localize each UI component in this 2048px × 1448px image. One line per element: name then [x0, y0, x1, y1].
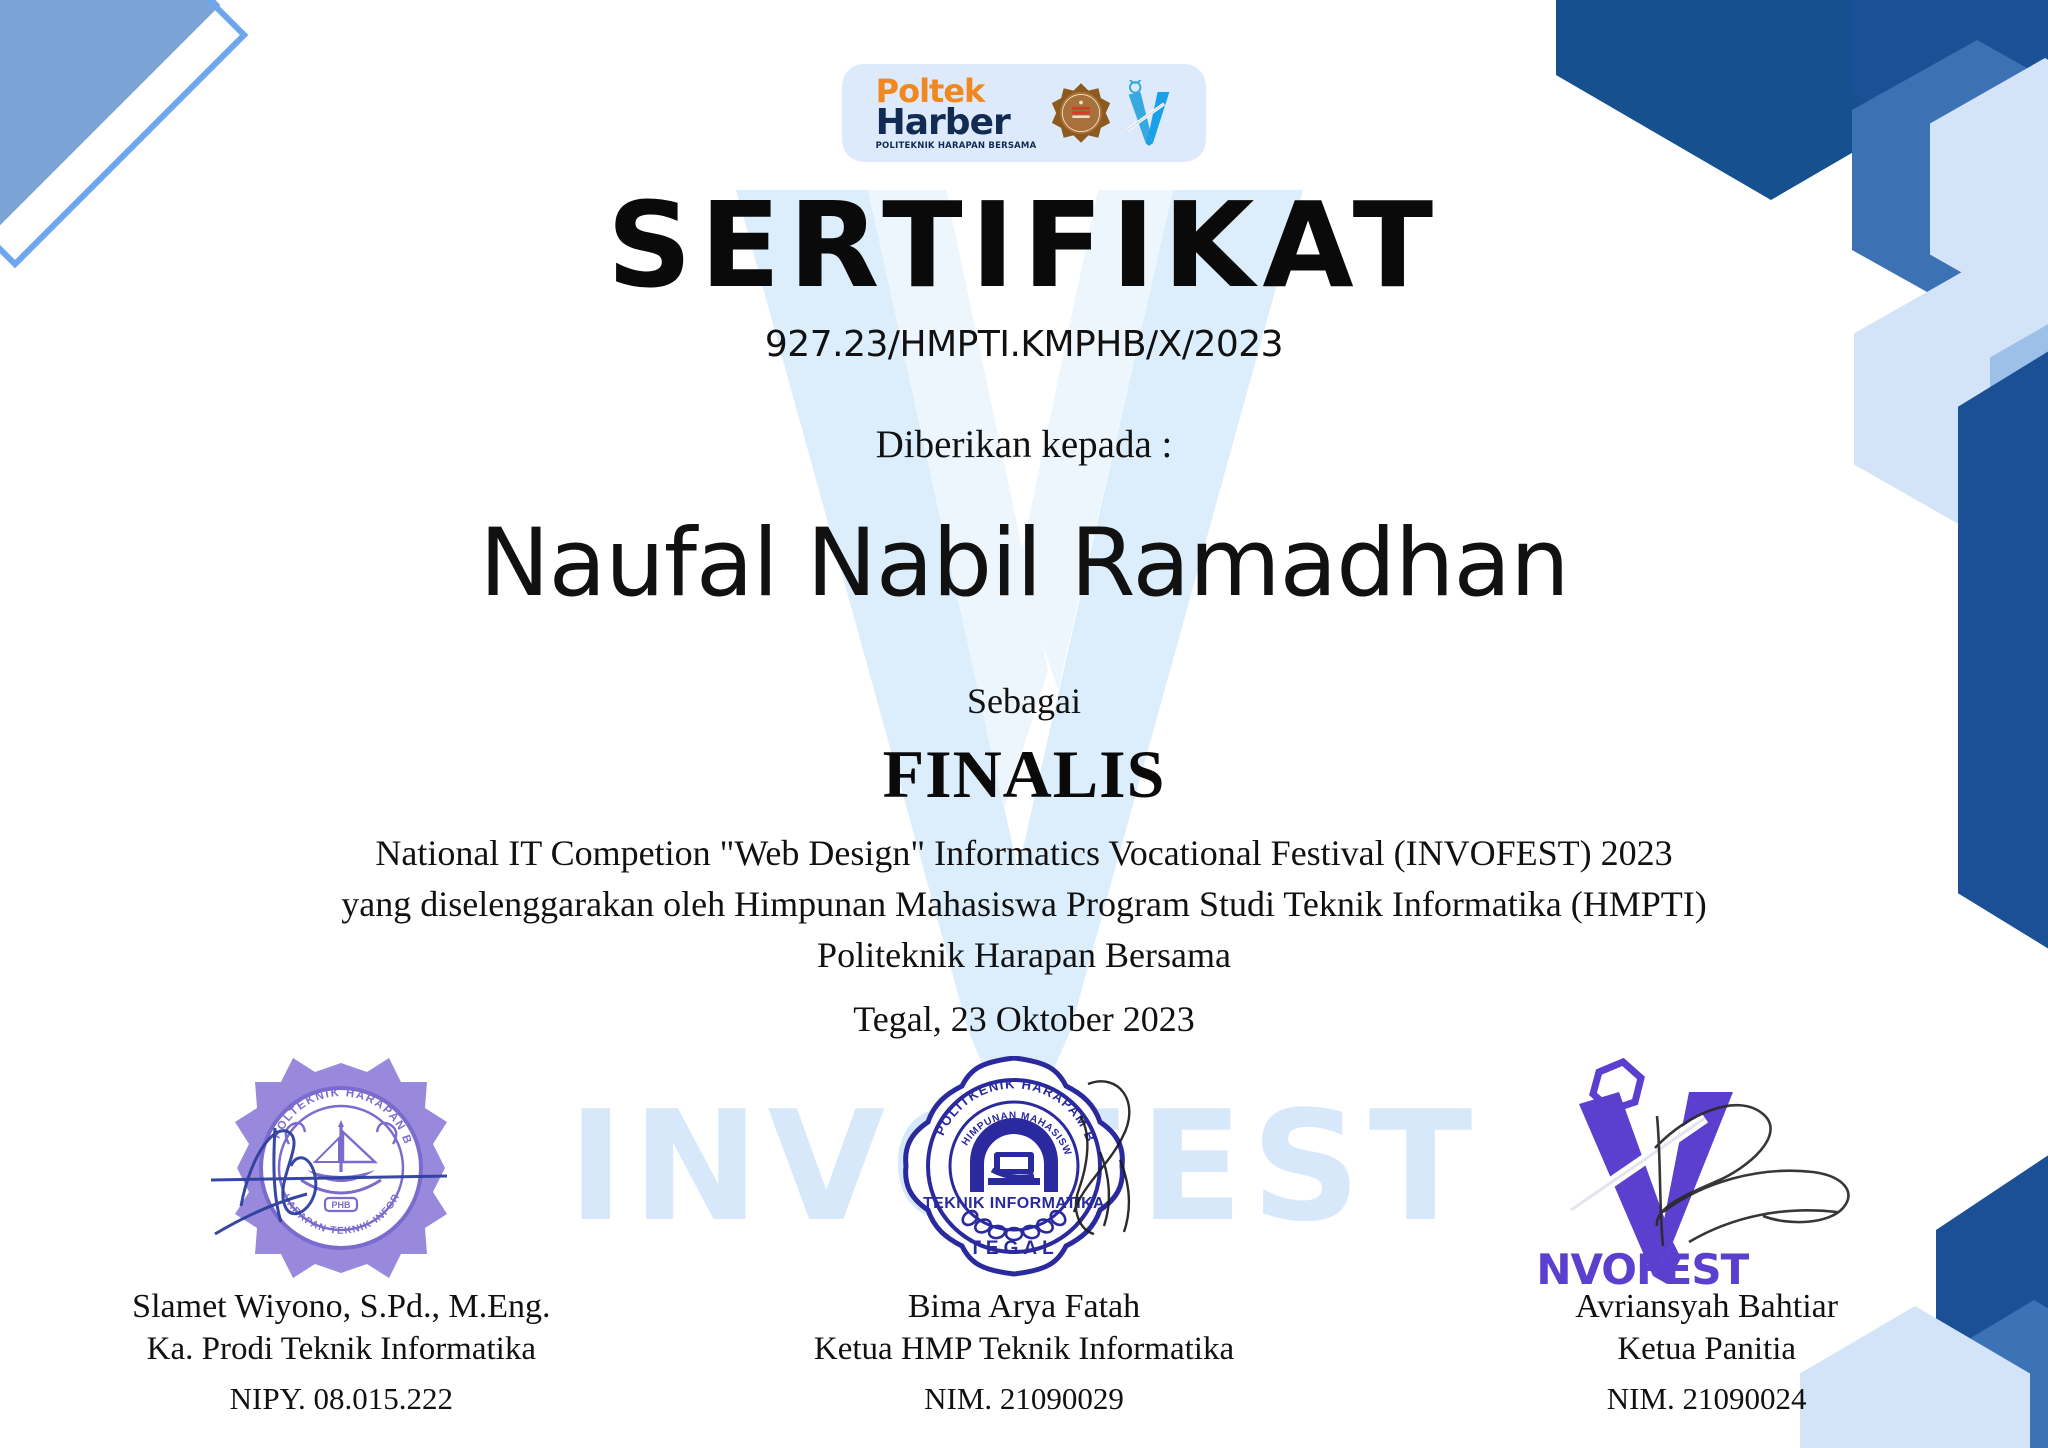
signature-art-left: POLTEKNIK HARAPAN BERSAMA HARAPAN TEKNIK… [0, 1056, 683, 1286]
award-title: FINALIS [0, 735, 2048, 814]
place-and-date: Tegal, 23 Oktober 2023 [0, 998, 2048, 1040]
brand-subtitle-text: POLITEKNIK HARAPAN BERSAMA [876, 142, 1037, 150]
poltek-harber-wordmark: Poltek Harber POLITEKNIK HARAPAN BERSAMA [876, 76, 1037, 151]
certificate-number: 927.23/HMPTI.KMPHB/X/2023 [0, 324, 2048, 365]
given-to-label: Diberikan kepada : [0, 422, 2048, 467]
certificate-content: Poltek Harber POLITEKNIK HARAPAN BERSAMA [0, 0, 2048, 1448]
gold-institution-seal-icon [1050, 82, 1112, 144]
signature-block-right: INVOFEST Avriansyah Bahtiar Ketua Paniti… [1365, 1056, 2048, 1419]
signature-art-middle: POLITKENIK HARAPAM BERSAMA HIMPUNAN MAHA… [683, 1056, 1366, 1286]
signature-row: POLTEKNIK HARAPAN BERSAMA HARAPAN TEKNIK… [0, 1056, 2048, 1419]
signature-id-middle: NIM. 21090029 [683, 1380, 1366, 1419]
description-line-2: yang diselenggarakan oleh Himpunan Mahas… [0, 879, 2048, 930]
signature-id-left: NIPY. 08.015.222 [0, 1380, 683, 1419]
page-title: SERTIFIKAT [0, 186, 2048, 304]
signature-id-right: NIM. 21090024 [1365, 1380, 2048, 1419]
description-line-3: Politeknik Harapan Bersama [0, 930, 2048, 981]
brand-bottom-text: Harber [876, 106, 1037, 140]
signature-role-middle: Ketua HMP Teknik Informatika [683, 1329, 1366, 1370]
svg-text:INVOFEST: INVOFEST [1537, 1245, 1750, 1286]
signature-block-left: POLTEKNIK HARAPAN BERSAMA HARAPAN TEKNIK… [0, 1056, 683, 1419]
invofest-logo-icon: INVOFEST [1537, 1056, 1877, 1286]
certificate-page: INVOFEST Poltek Harber POLITEKNIK HARAPA… [0, 0, 2048, 1448]
invofest-v-logo-icon [1126, 80, 1172, 146]
politeknik-harapan-bersama-purple-stamp-icon: POLTEKNIK HARAPAN BERSAMA HARAPAN TEKNIK… [211, 1056, 471, 1286]
signature-name-middle: Bima Arya Fatah [683, 1286, 1366, 1329]
description-block: National IT Competion "Web Design" Infor… [0, 828, 2048, 981]
hmp-teknik-informatika-blue-stamp-icon: POLITKENIK HARAPAM BERSAMA HIMPUNAN MAHA… [874, 1056, 1174, 1286]
recipient-name: Naufal Nabil Ramadhan [0, 512, 2048, 615]
signature-role-right: Ketua Panitia [1365, 1329, 2048, 1370]
logo-bar: Poltek Harber POLITEKNIK HARAPAN BERSAMA [842, 64, 1206, 162]
description-line-1: National IT Competion "Web Design" Infor… [0, 828, 2048, 879]
signature-name-left: Slamet Wiyono, S.Pd., M.Eng. [0, 1286, 683, 1329]
svg-text:TEGAL: TEGAL [969, 1238, 1058, 1259]
as-label: Sebagai [0, 680, 2048, 722]
svg-text:PHB: PHB [332, 1200, 352, 1210]
signature-name-right: Avriansyah Bahtiar [1365, 1286, 2048, 1329]
signature-art-right: INVOFEST [1365, 1056, 2048, 1286]
signature-role-left: Ka. Prodi Teknik Informatika [0, 1329, 683, 1370]
signature-block-middle: POLITKENIK HARAPAM BERSAMA HIMPUNAN MAHA… [683, 1056, 1366, 1419]
